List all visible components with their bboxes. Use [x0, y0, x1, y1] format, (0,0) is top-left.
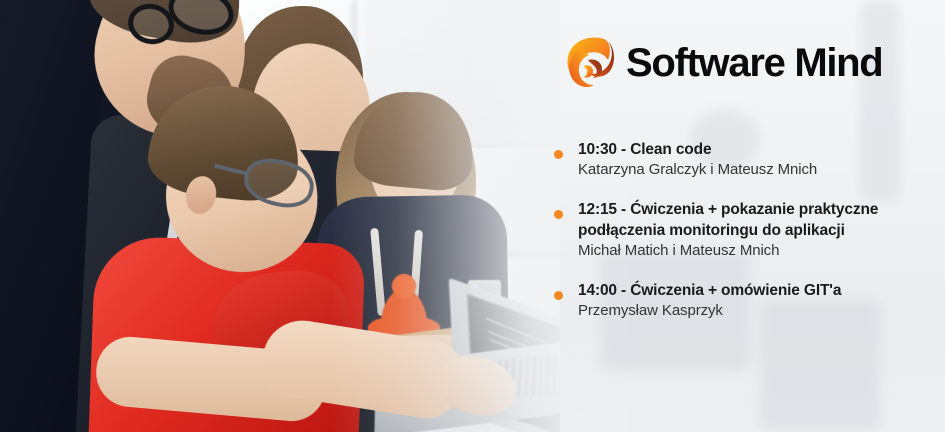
agenda-item-title: 14:00 - Ćwiczenia + omówienie GIT'a — [578, 281, 945, 301]
bullet-icon — [554, 291, 563, 300]
bullet-icon — [554, 150, 563, 159]
agenda-item-speakers: Michał Matich i Mateusz Mnich — [578, 241, 945, 261]
event-agenda-banner: Software Mind 10:30 - Clean code Katarzy… — [0, 0, 945, 432]
brand-wordmark: Software Mind — [626, 43, 882, 83]
agenda-item-title: 10:30 - Clean code — [578, 140, 945, 160]
agenda-item-3: 14:00 - Ćwiczenia + omówienie GIT'a Prze… — [548, 281, 945, 321]
agenda-item-2: 12:15 - Ćwiczenia + pokazanie praktyczne… — [548, 200, 945, 261]
agenda-list: 10:30 - Clean code Katarzyna Gralczyk i … — [548, 140, 945, 341]
agenda-item-speakers: Przemysław Kasprzyk — [578, 301, 945, 321]
agenda-item-speakers: Katarzyna Gralczyk i Mateusz Mnich — [578, 160, 945, 180]
bullet-icon — [554, 210, 563, 219]
agenda-item-1: 10:30 - Clean code Katarzyna Gralczyk i … — [548, 140, 945, 180]
brand-logo: Software Mind — [564, 36, 882, 90]
agenda-item-title: 12:15 - Ćwiczenia + pokazanie praktyczne… — [578, 200, 945, 241]
flame-phoenix-logo-icon — [564, 36, 616, 90]
agenda-content-panel: Software Mind 10:30 - Clean code Katarzy… — [548, 0, 945, 432]
